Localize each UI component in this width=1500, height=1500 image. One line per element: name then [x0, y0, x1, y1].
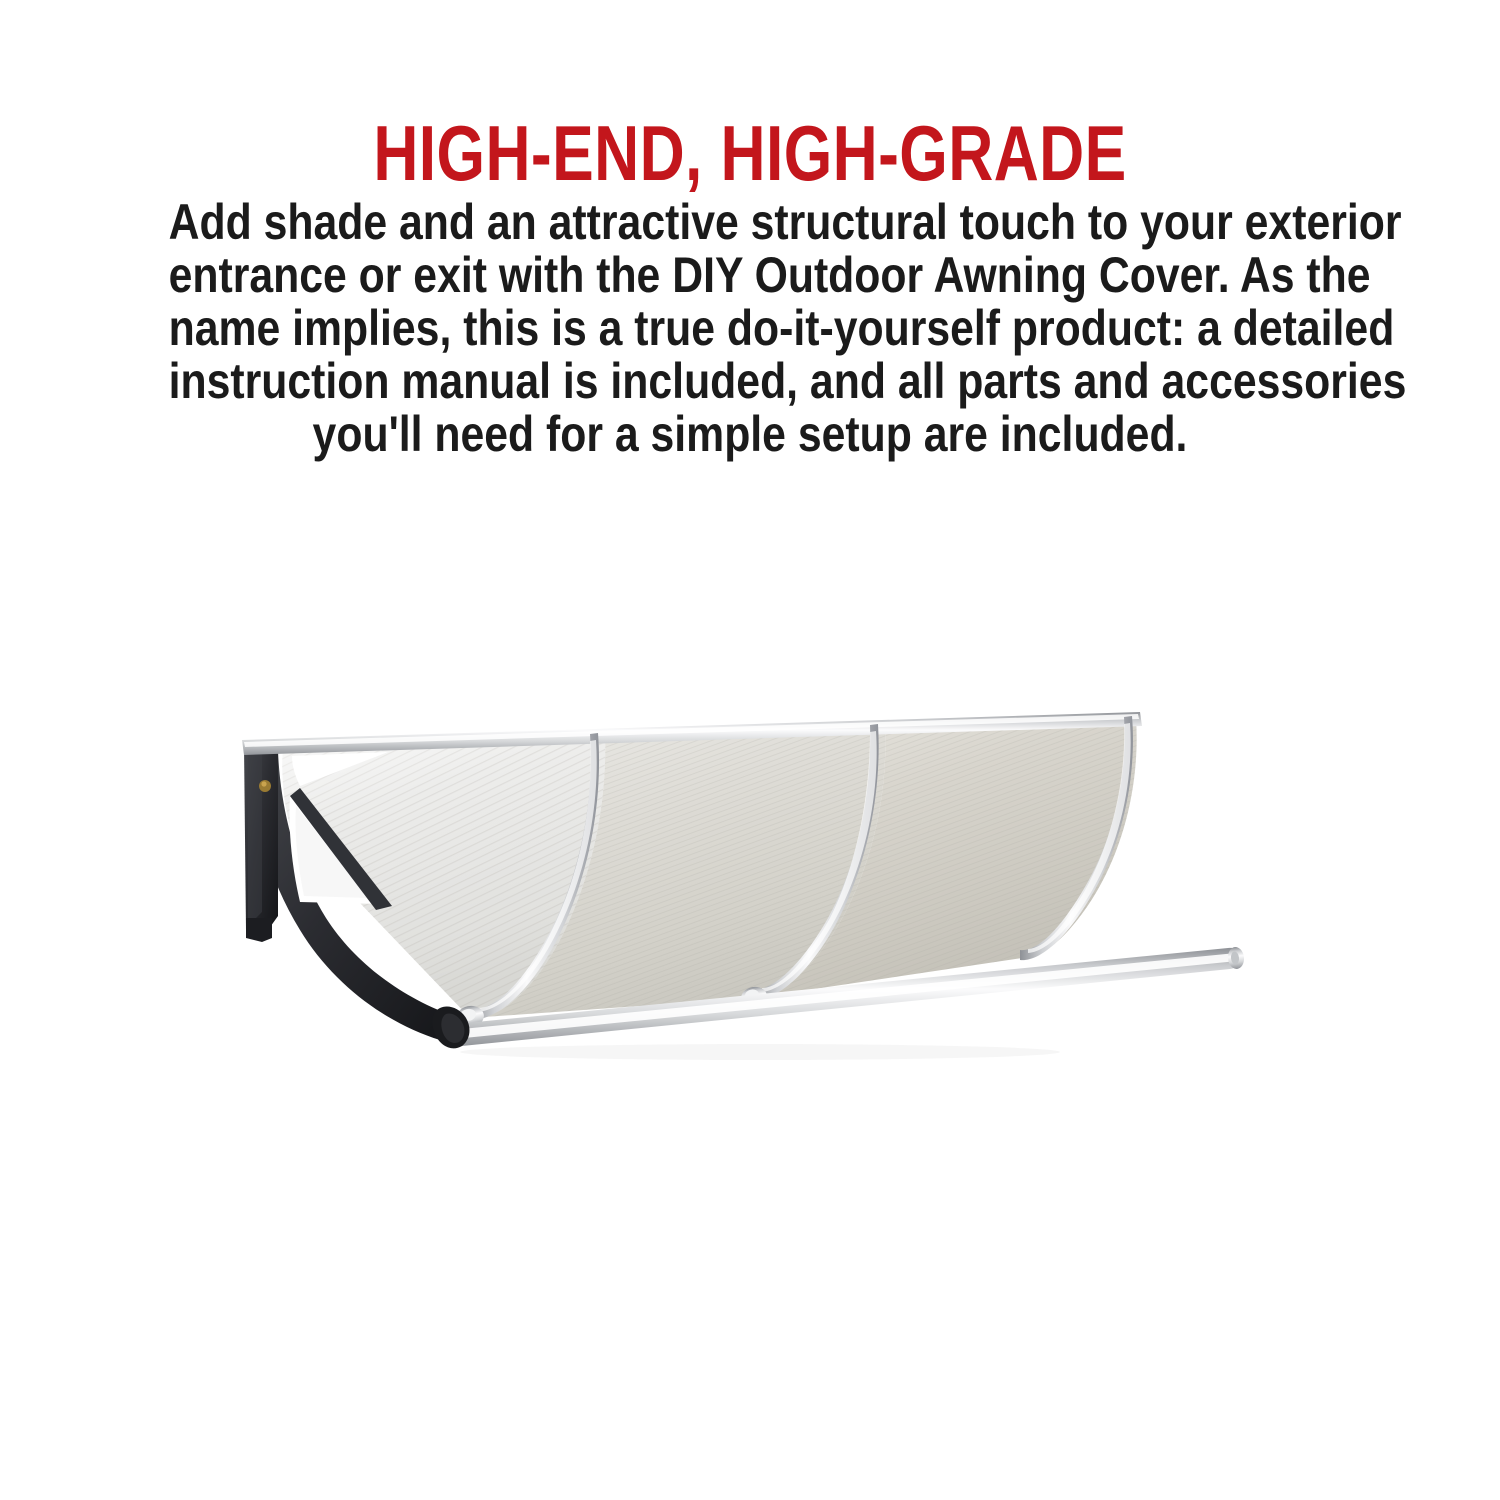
bracket-plate-highlight — [248, 750, 262, 922]
mounting-screw-highlight — [261, 781, 266, 786]
awning-illustration — [0, 600, 1500, 1120]
product-image — [0, 600, 1500, 1120]
description-line: name implies, this is a true do-it-yours… — [169, 302, 1332, 355]
description-line: instruction manual is included, and all … — [169, 355, 1332, 408]
page-title: HIGH-END, HIGH-GRADE — [150, 114, 1350, 192]
description-line: Add shade and an attractive structural t… — [169, 196, 1332, 249]
product-shadow — [460, 1044, 1060, 1060]
product-feature-page: HIGH-END, HIGH-GRADE Add shade and an at… — [0, 0, 1500, 1500]
description-line: you'll need for a simple setup are inclu… — [169, 408, 1332, 461]
bracket-foot — [246, 918, 272, 942]
description-line: entrance or exit with the DIY Outdoor Aw… — [169, 249, 1332, 302]
product-description: Add shade and an attractive structural t… — [70, 196, 1430, 461]
